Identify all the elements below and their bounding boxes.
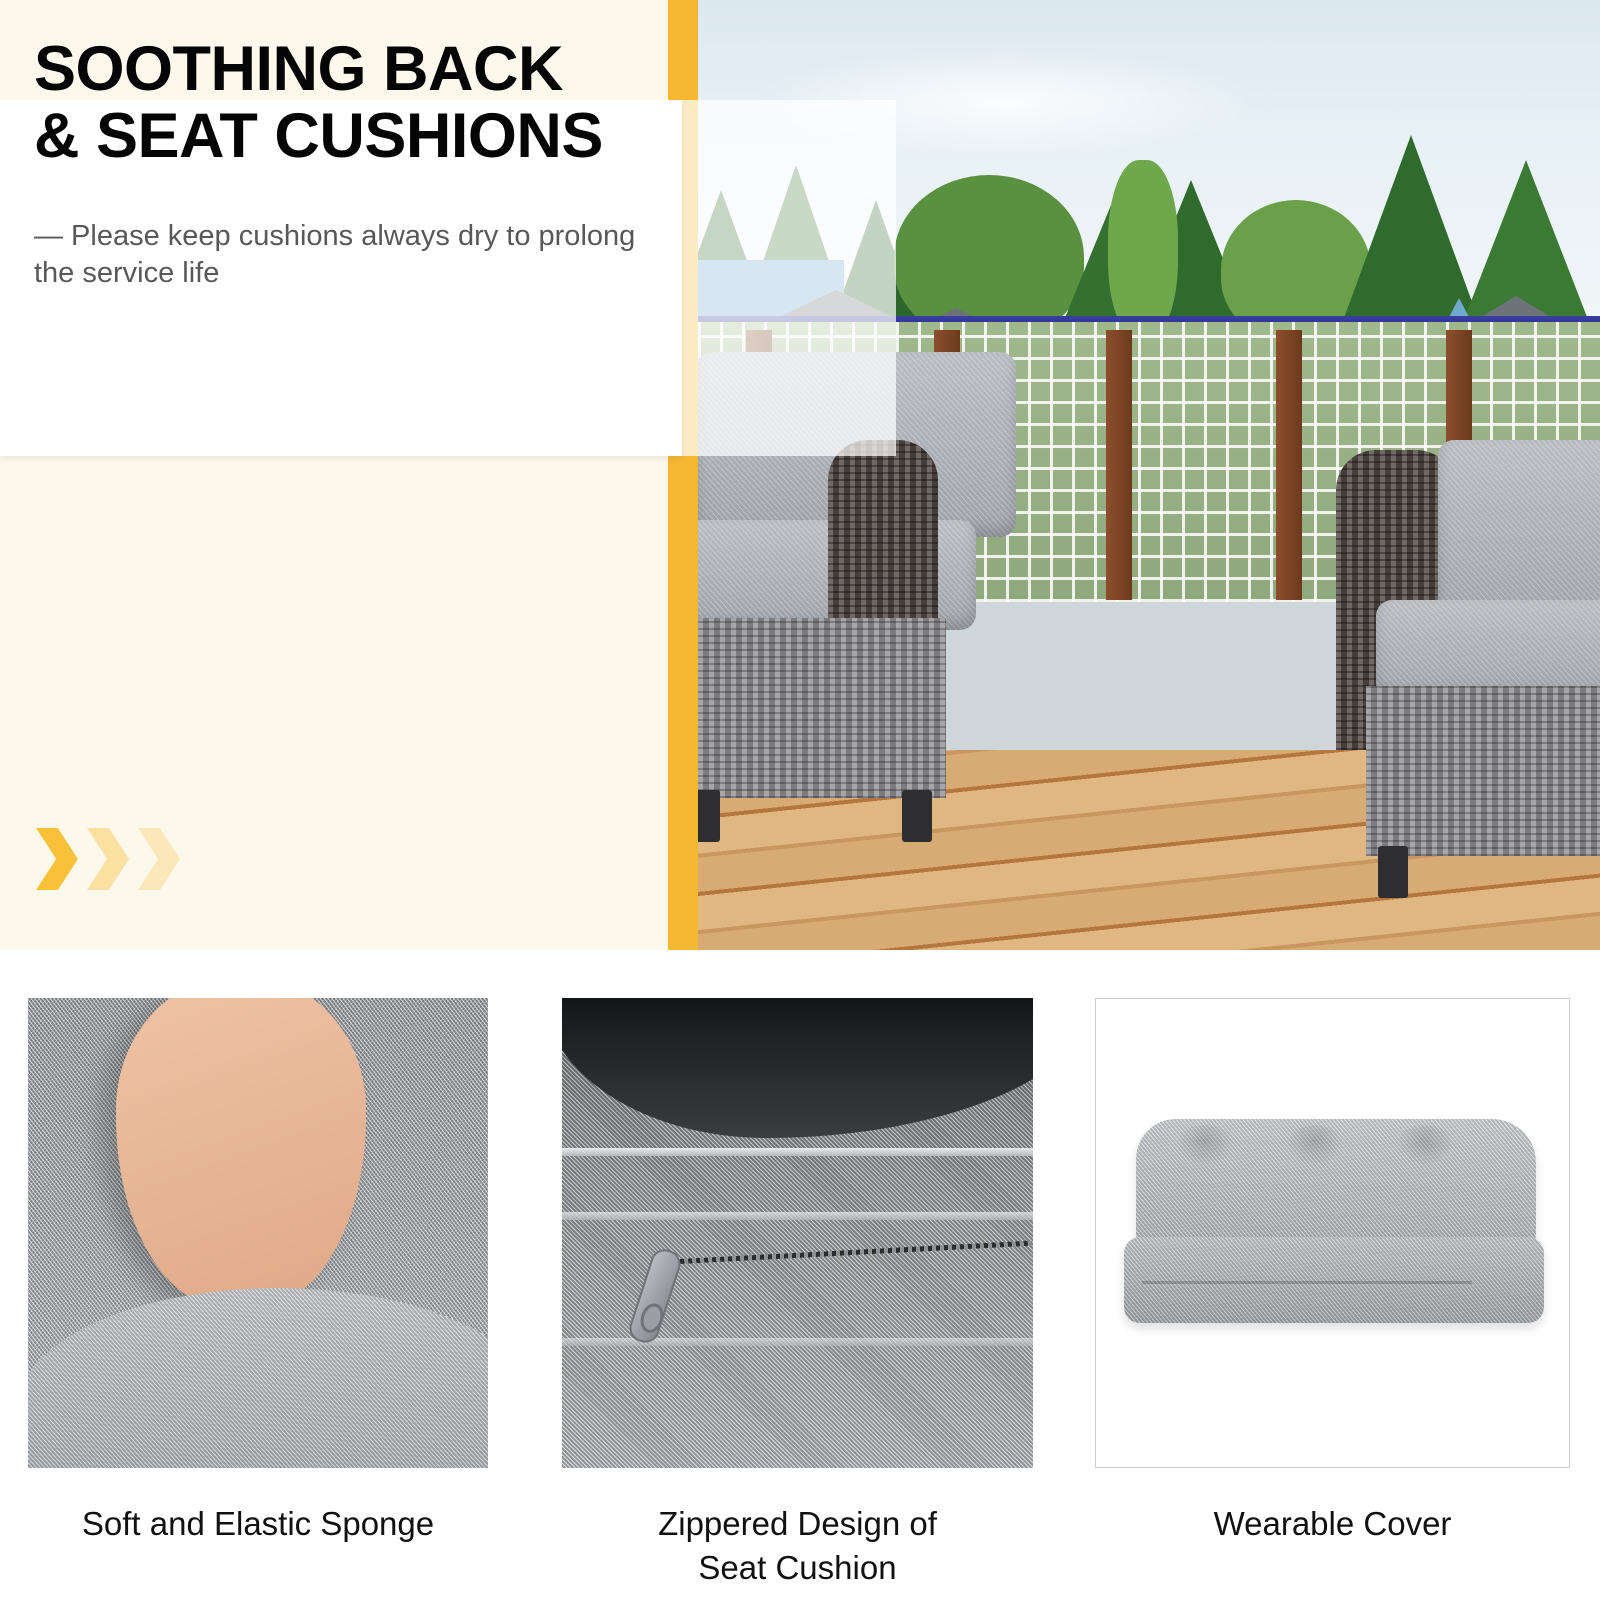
railing-post: [1106, 330, 1132, 600]
seam-line: [562, 1212, 1033, 1220]
feature-panel-cover: Wearable Cover: [1095, 998, 1570, 1546]
feature-caption: Soft and Elastic Sponge: [28, 1502, 488, 1546]
right-chair-seat-cushion: [1376, 600, 1600, 700]
left-chair-base: [676, 618, 946, 798]
right-chair-leg: [1378, 846, 1408, 898]
railing-post: [1276, 330, 1302, 600]
seam-line: [562, 1338, 1033, 1346]
chevron-right-icon: [87, 828, 129, 890]
seam-line: [562, 1148, 1033, 1156]
chevron-right-icon: [138, 828, 180, 890]
chevron-arrows-decoration: [36, 828, 180, 890]
right-chair-base: [1366, 686, 1600, 856]
page-title: SOOTHING BACK & SEAT CUSHIONS: [34, 36, 754, 170]
feature-panel-zipper: Zippered Design of Seat Cushion: [562, 998, 1033, 1589]
feature-image-zipper: [562, 998, 1033, 1468]
seat-cushion: [1124, 1237, 1544, 1323]
feature-caption: Zippered Design of Seat Cushion: [562, 1502, 1033, 1589]
feature-image-cover: [1095, 998, 1570, 1468]
page-subtitle: — Please keep cushions always dry to pro…: [34, 218, 864, 292]
feature-image-sponge: [28, 998, 488, 1468]
chevron-right-icon: [36, 828, 78, 890]
feature-caption: Wearable Cover: [1095, 1502, 1570, 1546]
feature-panel-sponge: Soft and Elastic Sponge: [28, 998, 488, 1546]
feature-panels-section: Soft and Elastic Sponge Zippered Design …: [0, 950, 1600, 1600]
hero-section: SOOTHING BACK & SEAT CUSHIONS — Please k…: [0, 0, 1600, 950]
left-chair-leg: [902, 790, 932, 842]
